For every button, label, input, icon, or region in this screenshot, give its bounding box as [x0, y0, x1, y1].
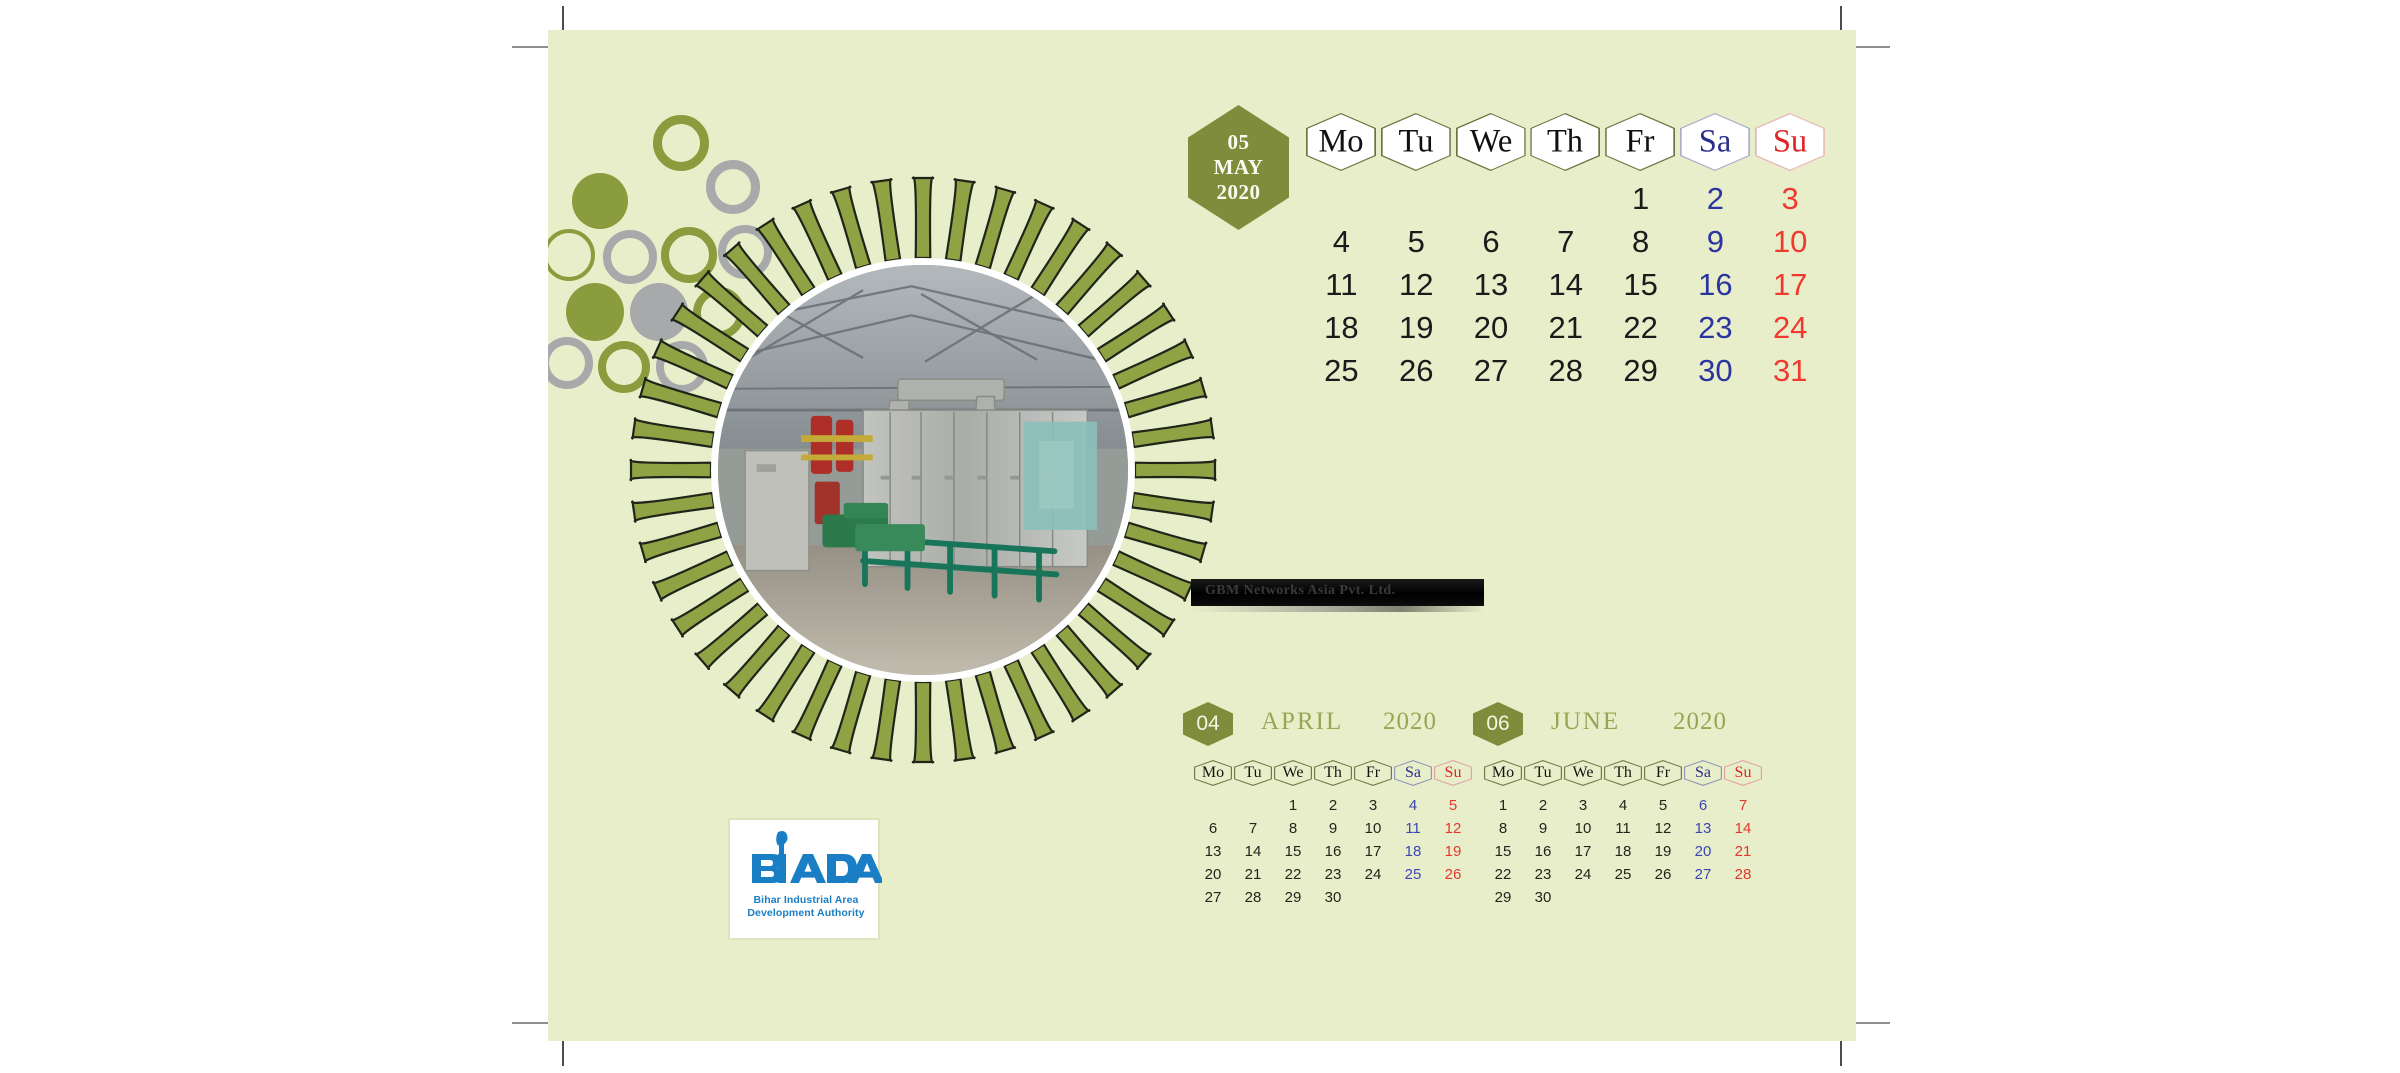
main-date-cell[interactable]: 17: [1753, 263, 1828, 306]
main-weekday-header-label: Mo: [1318, 114, 1363, 169]
previous-date-cell[interactable]: 24: [1353, 863, 1393, 886]
main-month-year: 2020: [1217, 180, 1261, 205]
main-date-cell[interactable]: 24: [1753, 306, 1828, 349]
previous-date-cell[interactable]: 12: [1433, 817, 1473, 840]
next-date-cell[interactable]: 10: [1563, 817, 1603, 840]
previous-date-cell[interactable]: 21: [1233, 863, 1273, 886]
main-weekday-header-we: We: [1454, 113, 1529, 171]
previous-weekday-header-fr: Fr: [1353, 760, 1393, 786]
main-date-cell[interactable]: 6: [1454, 220, 1529, 263]
next-date-cell-empty: [1643, 886, 1683, 909]
next-weekday-header-tu: Tu: [1523, 760, 1563, 786]
biada-wordmark-icon: [730, 828, 882, 890]
next-date-cell[interactable]: 9: [1523, 817, 1563, 840]
previous-weekday-header-label: We: [1273, 760, 1313, 786]
previous-date-cell[interactable]: 19: [1433, 840, 1473, 863]
credit-bar-text: GBM Networks Asia Pvt. Ltd.: [1205, 583, 1395, 599]
previous-date-cell[interactable]: 13: [1193, 840, 1233, 863]
previous-weekday-header-sa: Sa: [1393, 760, 1433, 786]
previous-date-cell-empty: [1193, 794, 1233, 817]
main-date-cell[interactable]: 1: [1603, 177, 1678, 220]
previous-weekday-header-tu: Tu: [1233, 760, 1273, 786]
main-weekday-header-mo: Mo: [1304, 113, 1379, 171]
main-date-cell[interactable]: 19: [1379, 306, 1454, 349]
main-date-cell[interactable]: 26: [1379, 349, 1454, 392]
main-week-row: 18192021222324: [1304, 306, 1828, 349]
main-date-cell-empty: [1379, 177, 1454, 220]
main-weekday-header-label: We: [1469, 114, 1511, 169]
previous-date-cell[interactable]: 11: [1393, 817, 1433, 840]
previous-weekday-header-label: Sa: [1393, 760, 1433, 786]
main-date-cell[interactable]: 8: [1603, 220, 1678, 263]
main-weekday-header-label: Tu: [1398, 114, 1433, 169]
next-week-row: 15161718192021: [1483, 840, 1763, 863]
previous-week-row: 6789101112: [1193, 817, 1473, 840]
hexagon-icon: Mo: [1308, 114, 1375, 169]
hexagon-icon: Sa: [1682, 114, 1749, 169]
next-date-cell[interactable]: 2: [1523, 794, 1563, 817]
main-weekday-header-label: Su: [1773, 114, 1807, 169]
next-date-cell[interactable]: 3: [1563, 794, 1603, 817]
previous-date-cell[interactable]: 30: [1313, 886, 1353, 909]
previous-date-cell[interactable]: 16: [1313, 840, 1353, 863]
next-weekday-header-label: Mo: [1483, 760, 1523, 786]
previous-weekday-header-label: Mo: [1193, 760, 1233, 786]
next-weekday-header-su: Su: [1723, 760, 1763, 786]
previous-date-cell[interactable]: 4: [1393, 794, 1433, 817]
next-month-number: 06: [1486, 712, 1509, 736]
next-date-cell[interactable]: 25: [1603, 863, 1643, 886]
circle-arc-olive: [548, 229, 595, 281]
main-weekday-header-label: Th: [1547, 114, 1583, 169]
next-date-cell[interactable]: 24: [1563, 863, 1603, 886]
previous-date-cell[interactable]: 26: [1433, 863, 1473, 886]
previous-date-cell[interactable]: 9: [1313, 817, 1353, 840]
previous-week-row: 12345: [1193, 794, 1473, 817]
next-month-name: JUNE: [1551, 708, 1620, 736]
next-date-cell[interactable]: 30: [1523, 886, 1563, 909]
main-weekday-header-su: Su: [1753, 113, 1828, 171]
calendar-page: GBM Networks Asia Pvt. Ltd. 05 MAY 2020 …: [0, 0, 2400, 1073]
main-date-cell[interactable]: 3: [1753, 177, 1828, 220]
next-week-row: 22232425262728: [1483, 863, 1763, 886]
next-date-cell[interactable]: 23: [1523, 863, 1563, 886]
next-weekday-header-fr: Fr: [1643, 760, 1683, 786]
previous-date-cell[interactable]: 2: [1313, 794, 1353, 817]
previous-date-cell[interactable]: 3: [1353, 794, 1393, 817]
main-date-cell-empty: [1454, 177, 1529, 220]
previous-weekday-header-label: Su: [1433, 760, 1473, 786]
hexagon-icon: We: [1457, 114, 1524, 169]
next-weekday-header-we: We: [1563, 760, 1603, 786]
previous-week-row: 13141516171819: [1193, 840, 1473, 863]
previous-week-row: 27282930: [1193, 886, 1473, 909]
previous-date-cell[interactable]: 29: [1273, 886, 1313, 909]
previous-month-year: 2020: [1383, 708, 1437, 736]
next-date-cell-empty: [1563, 886, 1603, 909]
biada-logo-box: Bihar Industrial Area Development Author…: [728, 818, 880, 940]
main-date-cell[interactable]: 9: [1678, 220, 1753, 263]
photo-medallion: [623, 170, 1223, 770]
next-date-cell[interactable]: 29: [1483, 886, 1523, 909]
circle-solid-olive-2: [566, 283, 624, 341]
next-month-block: 06 JUNE 2020 MoTuWeThFrSaSu 123456789101…: [1473, 702, 1773, 1002]
previous-weekday-header-th: Th: [1313, 760, 1353, 786]
next-date-cell[interactable]: 21: [1723, 840, 1763, 863]
main-date-cell[interactable]: 18: [1304, 306, 1379, 349]
circle-solid-olive: [572, 173, 628, 229]
previous-date-cell[interactable]: 7: [1233, 817, 1273, 840]
main-date-cell[interactable]: 29: [1603, 349, 1678, 392]
main-date-cell[interactable]: 27: [1454, 349, 1529, 392]
main-week-row: 123: [1304, 177, 1828, 220]
credit-bar-shadow: [1191, 606, 1484, 612]
main-weekday-header-row: MoTuWeThFrSaSu: [1304, 113, 1828, 171]
main-date-cell[interactable]: 20: [1454, 306, 1529, 349]
main-date-cell[interactable]: 13: [1454, 263, 1529, 306]
main-month-badge: 05 MAY 2020: [1188, 105, 1289, 230]
main-month-number: 05: [1228, 130, 1250, 155]
previous-date-cell[interactable]: 1: [1273, 794, 1313, 817]
previous-month-badge: 04: [1183, 702, 1233, 746]
next-date-cell[interactable]: 7: [1723, 794, 1763, 817]
main-date-cell[interactable]: 28: [1528, 349, 1603, 392]
next-date-cell[interactable]: 11: [1603, 817, 1643, 840]
previous-date-cell[interactable]: 10: [1353, 817, 1393, 840]
main-weekday-header-label: Fr: [1626, 114, 1655, 169]
next-weekday-header-label: Sa: [1683, 760, 1723, 786]
main-date-cell[interactable]: 2: [1678, 177, 1753, 220]
main-month-name: MAY: [1214, 155, 1264, 180]
next-week-row: 891011121314: [1483, 817, 1763, 840]
previous-weekday-header-row: MoTuWeThFrSaSu: [1193, 760, 1473, 786]
main-date-grid: 1234567891011121314151617181920212223242…: [1304, 177, 1828, 407]
factory-photo-art: [718, 265, 1128, 675]
previous-date-cell[interactable]: 14: [1233, 840, 1273, 863]
main-week-row: 11121314151617: [1304, 263, 1828, 306]
circle-arc-grey: [548, 337, 593, 389]
previous-weekday-header-su: Su: [1433, 760, 1473, 786]
next-date-cell[interactable]: 27: [1683, 863, 1723, 886]
previous-weekday-header-label: Th: [1313, 760, 1353, 786]
main-date-cell[interactable]: 16: [1678, 263, 1753, 306]
previous-date-cell[interactable]: 25: [1393, 863, 1433, 886]
next-weekday-header-th: Th: [1603, 760, 1643, 786]
main-weekday-header-fr: Fr: [1603, 113, 1678, 171]
previous-weekday-header-label: Tu: [1233, 760, 1273, 786]
previous-weekday-header-we: We: [1273, 760, 1313, 786]
next-weekday-header-sa: Sa: [1683, 760, 1723, 786]
previous-month-block: 04 APRIL 2020 MoTuWeThFrSaSu 12345678910…: [1183, 702, 1483, 1002]
previous-date-cell[interactable]: 17: [1353, 840, 1393, 863]
previous-month-number: 04: [1196, 712, 1219, 736]
main-weekday-header-th: Th: [1528, 113, 1603, 171]
main-date-cell[interactable]: 30: [1678, 349, 1753, 392]
main-date-cell[interactable]: 25: [1304, 349, 1379, 392]
previous-date-cell[interactable]: 8: [1273, 817, 1313, 840]
previous-date-cell[interactable]: 28: [1233, 886, 1273, 909]
next-weekday-header-label: Su: [1723, 760, 1763, 786]
factory-photo: [711, 258, 1135, 682]
main-date-cell[interactable]: 10: [1753, 220, 1828, 263]
previous-date-cell-empty: [1353, 886, 1393, 909]
hexagon-icon: Th: [1532, 114, 1599, 169]
next-week-row: 1234567: [1483, 794, 1763, 817]
next-date-cell[interactable]: 18: [1603, 840, 1643, 863]
next-date-cell[interactable]: 5: [1643, 794, 1683, 817]
previous-date-cell[interactable]: 22: [1273, 863, 1313, 886]
next-date-cell[interactable]: 4: [1603, 794, 1643, 817]
next-date-cell[interactable]: 8: [1483, 817, 1523, 840]
previous-date-grid: 1234567891011121314151617181920212223242…: [1193, 794, 1473, 964]
previous-date-cell[interactable]: 27: [1193, 886, 1233, 909]
next-date-cell[interactable]: 17: [1563, 840, 1603, 863]
main-date-cell[interactable]: 14: [1528, 263, 1603, 306]
next-date-cell[interactable]: 12: [1643, 817, 1683, 840]
next-weekday-header-label: Th: [1603, 760, 1643, 786]
biada-logo-caption: Bihar Industrial Area Development Author…: [730, 894, 882, 919]
circle-ring-olive: [653, 115, 709, 171]
next-weekday-header-label: Tu: [1523, 760, 1563, 786]
biada-caption-line2: Development Authority: [730, 907, 882, 920]
main-date-cell-empty: [1304, 177, 1379, 220]
main-date-cell[interactable]: 15: [1603, 263, 1678, 306]
next-weekday-header-row: MoTuWeThFrSaSu: [1483, 760, 1763, 786]
main-weekday-header-label: Sa: [1699, 114, 1731, 169]
main-date-cell[interactable]: 31: [1753, 349, 1828, 392]
next-date-cell-empty: [1683, 886, 1723, 909]
main-weekday-header-sa: Sa: [1678, 113, 1753, 171]
main-date-cell[interactable]: 23: [1678, 306, 1753, 349]
next-date-cell[interactable]: 26: [1643, 863, 1683, 886]
previous-date-cell[interactable]: 23: [1313, 863, 1353, 886]
hexagon-icon: Su: [1756, 114, 1823, 169]
next-date-cell[interactable]: 14: [1723, 817, 1763, 840]
main-date-cell[interactable]: 4: [1304, 220, 1379, 263]
next-month-badge: 06: [1473, 702, 1523, 746]
main-weekday-header-tu: Tu: [1379, 113, 1454, 171]
main-week-row: 25262728293031: [1304, 349, 1828, 392]
main-month-block: 05 MAY 2020 MoTuWeThFrSaSu 1234567891011…: [1188, 85, 1828, 375]
calendar-sheet: GBM Networks Asia Pvt. Ltd. 05 MAY 2020 …: [548, 30, 1856, 1041]
next-month-year: 2020: [1673, 708, 1727, 736]
previous-weekday-header-mo: Mo: [1193, 760, 1233, 786]
next-date-cell[interactable]: 20: [1683, 840, 1723, 863]
next-week-row: 2930: [1483, 886, 1763, 909]
previous-date-cell-empty: [1233, 794, 1273, 817]
next-weekday-header-label: We: [1563, 760, 1603, 786]
next-date-cell[interactable]: 1: [1483, 794, 1523, 817]
previous-week-row: 20212223242526: [1193, 863, 1473, 886]
main-date-cell[interactable]: 7: [1528, 220, 1603, 263]
credit-bar: GBM Networks Asia Pvt. Ltd.: [1191, 579, 1484, 606]
next-date-cell[interactable]: 16: [1523, 840, 1563, 863]
previous-month-name: APRIL: [1261, 708, 1343, 736]
hexagon-icon: Tu: [1382, 114, 1449, 169]
next-date-cell[interactable]: 22: [1483, 863, 1523, 886]
main-date-cell[interactable]: 12: [1379, 263, 1454, 306]
next-date-cell[interactable]: 19: [1643, 840, 1683, 863]
main-week-row: 45678910: [1304, 220, 1828, 263]
previous-date-cell[interactable]: 20: [1193, 863, 1233, 886]
main-date-cell[interactable]: 11: [1304, 263, 1379, 306]
next-date-cell[interactable]: 6: [1683, 794, 1723, 817]
main-date-cell[interactable]: 22: [1603, 306, 1678, 349]
hexagon-icon: Fr: [1607, 114, 1674, 169]
previous-date-cell[interactable]: 18: [1393, 840, 1433, 863]
previous-date-cell[interactable]: 5: [1433, 794, 1473, 817]
next-date-grid: 1234567891011121314151617181920212223242…: [1483, 794, 1763, 964]
previous-date-cell-empty: [1433, 886, 1473, 909]
biada-caption-line1: Bihar Industrial Area: [730, 894, 882, 907]
main-date-cell[interactable]: 21: [1528, 306, 1603, 349]
previous-weekday-header-label: Fr: [1353, 760, 1393, 786]
previous-date-cell-empty: [1393, 886, 1433, 909]
main-date-cell[interactable]: 5: [1379, 220, 1454, 263]
next-weekday-header-mo: Mo: [1483, 760, 1523, 786]
previous-date-cell[interactable]: 15: [1273, 840, 1313, 863]
next-date-cell-empty: [1603, 886, 1643, 909]
next-weekday-header-label: Fr: [1643, 760, 1683, 786]
next-date-cell[interactable]: 28: [1723, 863, 1763, 886]
previous-date-cell[interactable]: 6: [1193, 817, 1233, 840]
next-date-cell-empty: [1723, 886, 1763, 909]
main-date-cell-empty: [1528, 177, 1603, 220]
next-date-cell[interactable]: 15: [1483, 840, 1523, 863]
next-date-cell[interactable]: 13: [1683, 817, 1723, 840]
